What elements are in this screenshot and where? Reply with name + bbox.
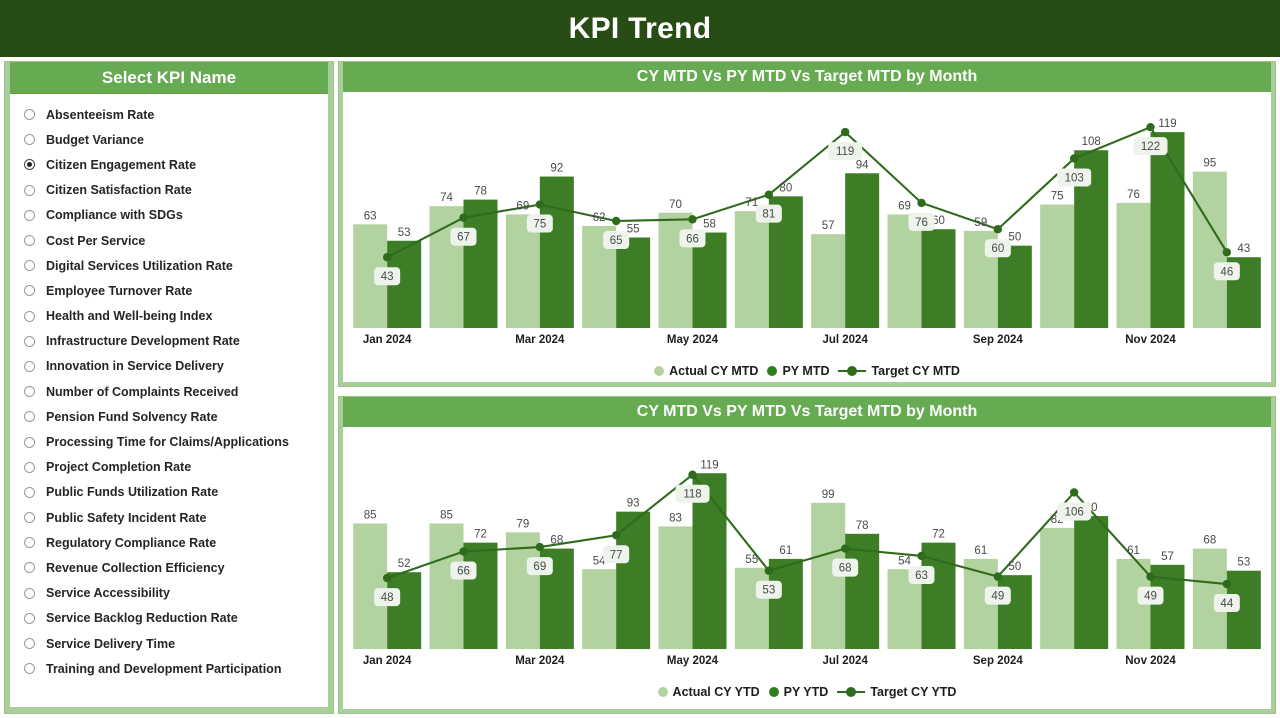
bar-value-label: 75 [1051,191,1064,203]
bar-py-mtd[interactable] [998,246,1032,328]
chart-svg: 6353747869926255705871805794696059507510… [343,92,1271,372]
bar-actual-cy-ytd[interactable] [582,569,616,649]
legend-entry[interactable]: Target CY MTD [838,364,959,378]
kpi-radio-item[interactable]: Service Backlog Reduction Rate [10,606,328,631]
kpi-radio-item[interactable]: Compliance with SDGs [10,203,328,228]
radio-button-icon[interactable] [24,235,35,246]
target-point[interactable] [536,200,544,208]
kpi-radio-item[interactable]: Pension Fund Solvency Rate [10,404,328,429]
bar-value-label: 95 [1203,158,1216,170]
target-value-label: 66 [451,562,477,580]
radio-button-icon[interactable] [24,437,35,448]
bar-value-label: 69 [898,200,911,212]
x-axis-tick-label: Jan 2024 [363,655,412,667]
chart-title-mtd: CY MTD Vs PY MTD Vs Target MTD by Month [637,68,977,86]
legend-entry[interactable]: PY YTD [769,685,829,699]
bar-value-label: 52 [398,558,411,570]
svg-text:75: 75 [533,219,546,231]
target-point[interactable] [1070,154,1078,162]
page-header: KPI Trend [0,0,1280,57]
bar-value-label: 58 [703,219,716,231]
svg-text:48: 48 [381,592,394,604]
kpi-item-label: Public Funds Utilization Rate [46,485,218,499]
kpi-slicer-panel: Select KPI Name Absenteeism RateBudget V… [4,61,334,714]
target-value-label: 106 [1057,502,1091,520]
target-point[interactable] [1070,488,1078,496]
target-value-label: 75 [527,215,553,233]
kpi-radio-item[interactable]: Employee Turnover Rate [10,278,328,303]
bar-value-label: 61 [1127,545,1140,557]
target-point[interactable] [688,215,696,223]
bar-value-label: 72 [474,529,487,541]
legend-swatch-icon [658,687,668,697]
kpi-item-label: Revenue Collection Efficiency [46,561,225,575]
bar-py-mtd[interactable] [1151,132,1185,328]
kpi-radio-item[interactable]: Training and Development Participation [10,656,328,681]
kpi-radio-item[interactable]: Service Delivery Time [10,631,328,656]
bar-actual-cy-mtd[interactable] [888,214,922,328]
kpi-radio-item[interactable]: Digital Services Utilization Rate [10,253,328,278]
kpi-item-label: Innovation in Service Delivery [46,359,224,373]
target-point[interactable] [383,253,391,261]
kpi-radio-item[interactable]: Public Funds Utilization Rate [10,480,328,505]
bar-value-label: 119 [1158,118,1176,130]
kpi-slicer-header: Select KPI Name [10,62,328,94]
kpi-radio-item[interactable]: Regulatory Compliance Rate [10,530,328,555]
bar-actual-cy-ytd[interactable] [1040,528,1074,649]
svg-text:68: 68 [839,563,852,575]
bar-py-mtd[interactable] [540,177,574,328]
plot-area-mtd[interactable]: 6353747869926255705871805794696059507510… [343,92,1271,372]
legend-line-icon [837,687,865,697]
x-axis-tick-label: Sep 2024 [973,655,1023,667]
chart-panel-ytd: CY MTD Vs PY MTD Vs Target MTD by Month … [338,396,1276,714]
target-value-label: 44 [1214,594,1240,612]
radio-button-icon[interactable] [24,462,35,473]
bar-actual-cy-ytd[interactable] [353,523,387,649]
bar-py-mtd[interactable] [464,200,498,328]
legend-swatch-icon [767,366,777,376]
target-value-label: 68 [832,559,858,577]
target-value-label: 53 [756,581,782,599]
kpi-list[interactable]: Absenteeism RateBudget VarianceCitizen E… [10,94,328,707]
kpi-item-label: Digital Services Utilization Rate [46,259,233,273]
bar-value-label: 43 [1237,243,1250,255]
bar-value-label: 93 [627,498,640,510]
bar-value-label: 59 [974,217,987,229]
svg-text:122: 122 [1141,141,1160,153]
legend-label: Target CY MTD [871,364,959,378]
bar-actual-cy-ytd[interactable] [430,523,464,649]
bar-value-label: 62 [593,212,606,224]
target-value-label: 69 [527,557,553,575]
kpi-item-label: Service Delivery Time [46,637,175,651]
bar-py-mtd[interactable] [845,173,879,328]
bar-py-mtd[interactable] [922,229,956,328]
bar-value-label: 92 [550,163,563,175]
bar-actual-cy-mtd[interactable] [1040,205,1074,328]
bar-value-label: 72 [932,529,945,541]
kpi-item-label: Pension Fund Solvency Rate [46,410,218,424]
kpi-item-label: Public Safety Incident Rate [46,511,206,525]
bar-value-label: 78 [474,186,487,198]
kpi-radio-item[interactable]: Health and Well-being Index [10,304,328,329]
target-value-label: 103 [1057,168,1091,186]
target-point[interactable] [1146,572,1154,580]
x-axis-tick-label: May 2024 [667,655,719,667]
svg-text:49: 49 [991,591,1004,603]
bar-py-ytd[interactable] [769,559,803,649]
radio-button-icon[interactable] [24,311,35,322]
legend-swatch-icon [769,687,779,697]
svg-text:119: 119 [836,146,854,158]
bar-value-label: 68 [1203,535,1216,547]
target-point[interactable] [917,552,925,560]
legend-label: PY MTD [782,364,829,378]
kpi-item-label: Regulatory Compliance Rate [46,536,216,550]
bar-value-label: 54 [898,555,911,567]
svg-text:77: 77 [610,549,623,561]
radio-button-icon[interactable] [24,386,35,397]
kpi-item-label: Project Completion Rate [46,460,191,474]
radio-button-icon[interactable] [24,487,35,498]
radio-button-icon[interactable] [24,613,35,624]
x-axis-tick-label: Jul 2024 [822,655,868,667]
svg-text:118: 118 [683,489,701,501]
x-axis-tick-label: May 2024 [667,334,719,346]
target-point[interactable] [383,574,391,582]
kpi-radio-item[interactable]: Absenteeism Rate [10,102,328,127]
svg-text:106: 106 [1065,506,1084,518]
legend-label: PY YTD [784,685,829,699]
svg-text:44: 44 [1220,598,1233,610]
bar-value-label: 57 [1161,551,1174,563]
page-title: KPI Trend [569,12,712,46]
radio-button-icon[interactable] [24,260,35,271]
bar-actual-cy-ytd[interactable] [659,526,693,649]
bar-py-ytd[interactable] [922,543,956,649]
bar-value-label: 85 [364,509,377,521]
radio-button-icon[interactable] [24,159,35,170]
kpi-radio-item[interactable]: Public Safety Incident Rate [10,505,328,530]
bar-actual-cy-mtd[interactable] [811,234,845,328]
radio-button-icon[interactable] [24,411,35,422]
target-value-label: 119 [828,142,862,160]
bar-value-label: 68 [550,535,563,547]
bar-py-ytd[interactable] [998,575,1032,649]
x-axis-tick-label: Mar 2024 [515,655,565,667]
kpi-radio-item[interactable]: Project Completion Rate [10,455,328,480]
bar-actual-cy-mtd[interactable] [735,211,769,328]
svg-text:67: 67 [457,232,470,244]
chart-title-bar-mtd: CY MTD Vs PY MTD Vs Target MTD by Month [343,62,1271,92]
svg-text:43: 43 [381,271,394,283]
bar-value-label: 70 [669,199,682,211]
radio-button-icon[interactable] [24,638,35,649]
chart-title-ytd: CY MTD Vs PY MTD Vs Target MTD by Month [637,403,977,421]
svg-text:65: 65 [610,235,623,247]
bar-py-ytd[interactable] [1074,516,1108,649]
target-point[interactable] [841,128,849,136]
bar-value-label: 57 [822,220,835,232]
kpi-radio-item[interactable]: Revenue Collection Efficiency [10,555,328,580]
target-point[interactable] [765,190,773,198]
target-point[interactable] [688,471,696,479]
chart-legend-mtd[interactable]: Actual CY MTDPY MTDTarget CY MTD [343,364,1271,378]
target-point[interactable] [917,199,925,207]
x-axis-tick-label: Nov 2024 [1125,655,1176,667]
radio-button-icon[interactable] [24,663,35,674]
radio-button-icon[interactable] [24,537,35,548]
legend-label: Actual CY MTD [669,364,758,378]
bar-actual-cy-ytd[interactable] [506,532,540,649]
bar-actual-cy-ytd[interactable] [735,568,769,649]
target-value-label: 63 [909,566,935,584]
bar-value-label: 79 [516,518,529,530]
kpi-radio-item[interactable]: Processing Time for Claims/Applications [10,429,328,454]
kpi-radio-item[interactable]: Infrastructure Development Rate [10,329,328,354]
target-value-label: 48 [374,588,400,606]
bar-value-label: 83 [669,512,682,524]
svg-text:76: 76 [915,217,928,229]
kpi-item-label: Employee Turnover Rate [46,284,192,298]
target-value-label: 67 [451,228,477,246]
bar-py-ytd[interactable] [464,543,498,649]
bar-actual-cy-mtd[interactable] [1193,172,1227,328]
target-value-label: 81 [756,205,782,223]
bar-value-label: 50 [1008,561,1021,573]
bar-value-label: 76 [1127,189,1140,201]
svg-text:66: 66 [686,233,699,245]
chart-body-mtd: 6353747869926255705871805794696059507510… [343,92,1271,382]
kpi-item-label: Health and Well-being Index [46,309,212,323]
kpi-item-label: Cost Per Service [46,234,145,248]
chart-title-bar-ytd: CY MTD Vs PY MTD Vs Target MTD by Month [343,397,1271,427]
bar-value-label: 69 [516,200,529,212]
svg-text:60: 60 [991,243,1004,255]
bar-value-label: 61 [974,545,987,557]
target-value-label: 49 [985,587,1011,605]
plot-area-ytd[interactable]: 8552857279685493831195561997854726150829… [343,427,1271,699]
kpi-item-label: Service Accessibility [46,586,170,600]
x-axis-tick-label: Nov 2024 [1125,334,1176,346]
bar-value-label: 78 [856,520,869,532]
legend-entry[interactable]: Actual CY YTD [658,685,760,699]
kpi-item-label: Absenteeism Rate [46,108,154,122]
target-point[interactable] [994,572,1002,580]
svg-text:66: 66 [457,566,470,578]
kpi-radio-item[interactable]: Cost Per Service [10,228,328,253]
svg-text:103: 103 [1065,172,1084,184]
bar-actual-cy-mtd[interactable] [1117,203,1151,328]
bar-py-ytd[interactable] [387,572,421,649]
radio-button-icon[interactable] [24,109,35,120]
svg-text:49: 49 [1144,591,1157,603]
svg-text:46: 46 [1220,266,1233,278]
kpi-item-label: Citizen Engagement Rate [46,158,196,172]
kpi-item-label: Service Backlog Reduction Rate [46,611,238,625]
radio-button-icon[interactable] [24,134,35,145]
kpi-item-label: Citizen Satisfaction Rate [46,183,192,197]
radio-button-icon[interactable] [24,588,35,599]
bar-value-label: 99 [822,489,835,501]
kpi-item-label: Infrastructure Development Rate [46,334,240,348]
legend-entry[interactable]: Target CY YTD [837,685,956,699]
target-point[interactable] [459,547,467,555]
target-point[interactable] [1223,580,1231,588]
target-value-label: 46 [1214,262,1240,280]
target-value-label: 60 [985,239,1011,257]
kpi-slicer-title: Select KPI Name [102,68,236,88]
target-value-label: 122 [1134,137,1168,155]
bar-value-label: 108 [1082,136,1101,148]
target-point[interactable] [841,544,849,552]
target-value-label: 77 [603,545,629,563]
target-point[interactable] [994,225,1002,233]
svg-text:53: 53 [762,585,775,597]
kpi-radio-item[interactable]: Budget Variance [10,127,328,152]
legend-entry[interactable]: PY MTD [767,364,829,378]
bar-value-label: 55 [745,554,758,566]
legend-line-icon [838,366,866,376]
bar-value-label: 85 [440,509,453,521]
chart-panel-mtd: CY MTD Vs PY MTD Vs Target MTD by Month … [338,61,1276,387]
bar-value-label: 63 [364,210,377,222]
radio-button-icon[interactable] [24,361,35,372]
radio-button-icon[interactable] [24,336,35,347]
legend-entry[interactable]: Actual CY MTD [654,364,758,378]
target-value-label: 43 [374,267,400,285]
target-point[interactable] [612,217,620,225]
bar-value-label: 80 [779,182,792,194]
svg-text:69: 69 [533,561,546,573]
target-value-label: 49 [1138,587,1164,605]
radio-button-icon[interactable] [24,285,35,296]
bar-value-label: 119 [700,459,718,471]
target-point[interactable] [536,543,544,551]
kpi-radio-item[interactable]: Service Accessibility [10,581,328,606]
legend-label: Actual CY YTD [673,685,760,699]
kpi-radio-item[interactable]: Citizen Satisfaction Rate [10,178,328,203]
kpi-radio-item[interactable]: Citizen Engagement Rate [10,152,328,177]
kpi-radio-item[interactable]: Number of Complaints Received [10,379,328,404]
chart-legend-ytd[interactable]: Actual CY YTDPY YTDTarget CY YTD [343,685,1271,699]
bar-value-label: 94 [856,159,869,171]
radio-button-icon[interactable] [24,512,35,523]
target-value-label: 118 [676,485,710,503]
kpi-item-label: Processing Time for Claims/Applications [46,435,289,449]
x-axis-tick-label: Jan 2024 [363,334,412,346]
svg-text:81: 81 [762,209,775,221]
target-point[interactable] [1146,123,1154,131]
bar-actual-cy-mtd[interactable] [430,206,464,328]
kpi-item-label: Budget Variance [46,133,144,147]
target-value-label: 65 [603,231,629,249]
bar-py-mtd[interactable] [616,237,650,328]
kpi-item-label: Compliance with SDGs [46,208,183,222]
bar-value-label: 53 [398,227,411,239]
radio-button-icon[interactable] [24,562,35,573]
kpi-item-label: Number of Complaints Received [46,385,238,399]
target-value-label: 76 [909,213,935,231]
legend-label: Target CY YTD [870,685,956,699]
x-axis-tick-label: Sep 2024 [973,334,1023,346]
target-value-label: 66 [680,229,706,247]
chart-svg: 8552857279685493831195561997854726150829… [343,427,1271,699]
bar-value-label: 74 [440,192,453,204]
bar-value-label: 61 [779,545,792,557]
legend-swatch-icon [654,366,664,376]
target-point[interactable] [765,567,773,575]
svg-text:63: 63 [915,570,928,582]
kpi-item-label: Training and Development Participation [46,662,281,676]
x-axis-tick-label: Jul 2024 [822,334,868,346]
x-axis-tick-label: Mar 2024 [515,334,565,346]
radio-button-icon[interactable] [24,185,35,196]
target-point[interactable] [1223,248,1231,256]
radio-button-icon[interactable] [24,210,35,221]
target-point[interactable] [612,531,620,539]
chart-body-ytd: 8552857279685493831195561997854726150829… [343,427,1271,709]
bar-value-label: 53 [1237,557,1250,569]
kpi-radio-item[interactable]: Innovation in Service Delivery [10,354,328,379]
target-point[interactable] [459,214,467,222]
